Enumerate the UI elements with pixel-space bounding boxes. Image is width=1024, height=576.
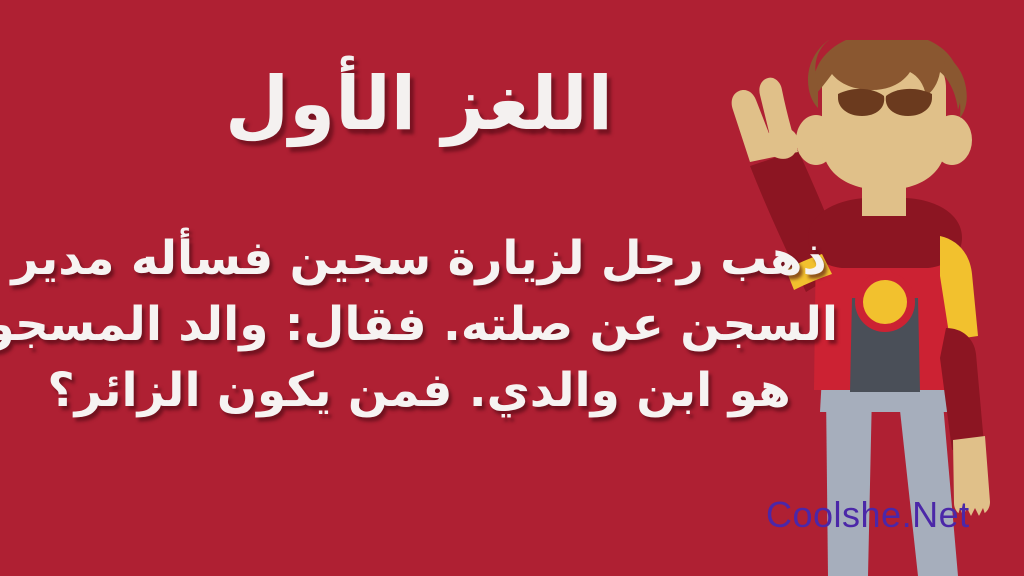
head-group	[796, 40, 972, 190]
chest-emblem-center	[863, 280, 907, 324]
left-leg	[826, 392, 872, 576]
image-canvas: اللغز الأول ذهب رجل لزيارة سجين فسأله مد…	[0, 0, 1024, 576]
legs-group	[820, 376, 958, 576]
site-watermark: Coolshe.Net	[766, 494, 970, 536]
right-arm-sleeve	[940, 328, 984, 450]
torso-group	[786, 198, 962, 392]
raised-thumb	[766, 127, 798, 159]
